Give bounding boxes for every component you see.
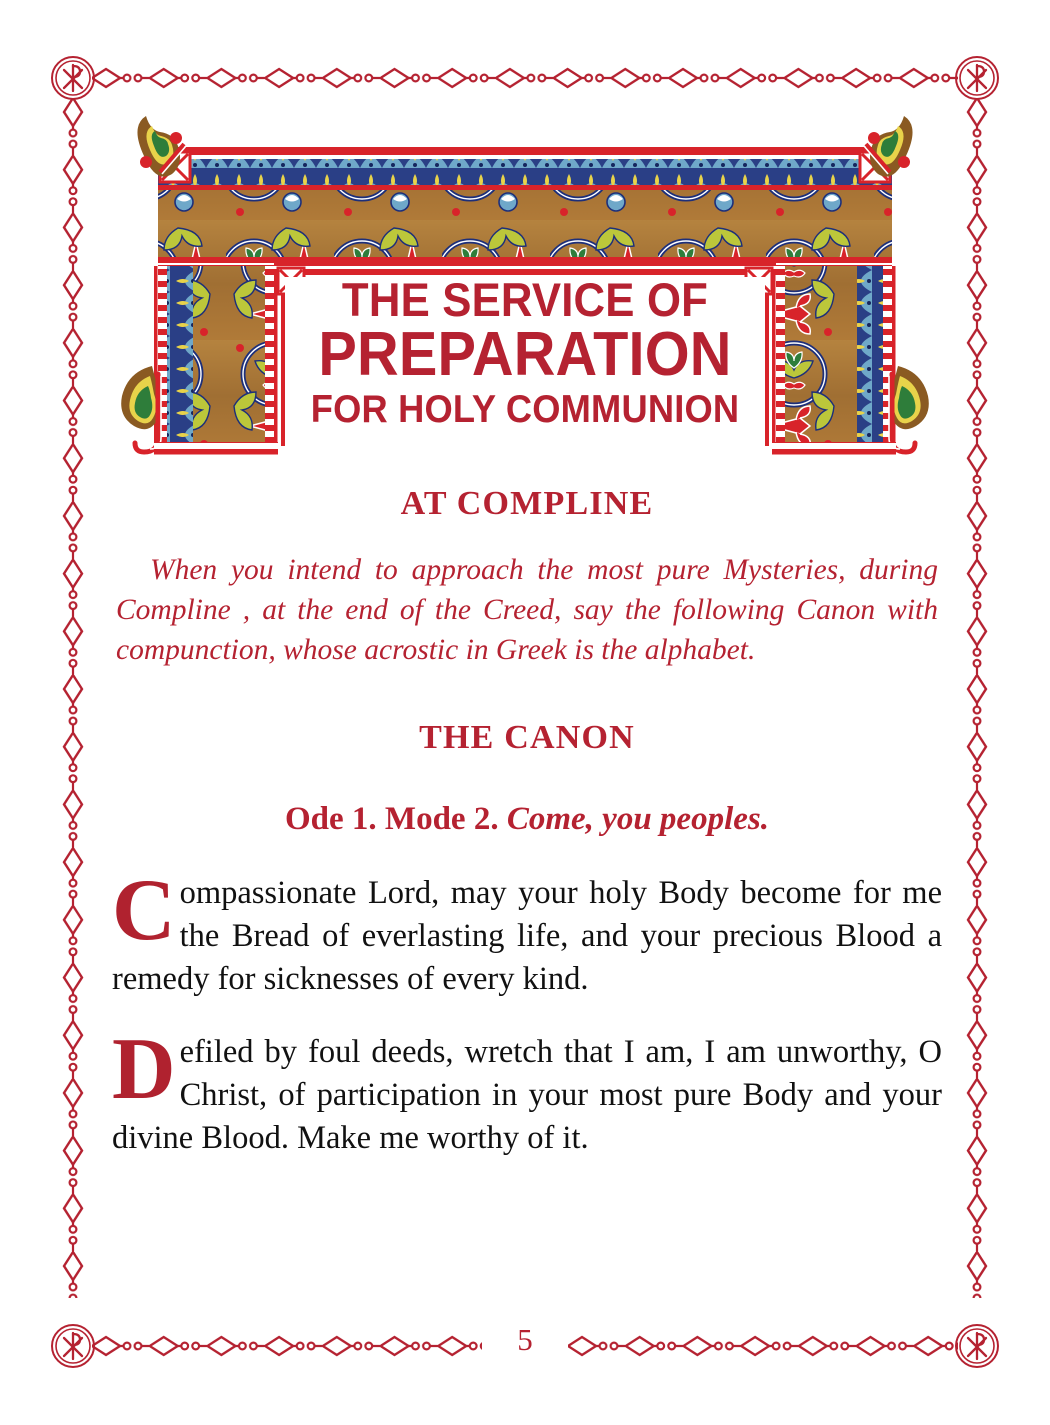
dropcap-c: C [112, 872, 179, 945]
heading-at-compline: AT COMPLINE [112, 485, 942, 523]
heading-ode-mode: Ode 1. Mode 2. Come, you peoples. [112, 801, 942, 838]
troparion-1: Compassionate Lord, may your holy Body b… [112, 872, 942, 1001]
ode-title: Come, you peoples. [507, 801, 769, 837]
chi-rho-icon [954, 55, 1000, 101]
page-number: 5 [0, 1322, 1050, 1358]
chi-rho-icon-top-left [50, 55, 96, 101]
dropcap-d: D [112, 1031, 179, 1104]
chain-lozenge-border-icon [58, 98, 88, 1298]
chain-lozenge-border-icon [92, 63, 958, 93]
troparion-1-text: ompassionate Lord, may your holy Body be… [112, 875, 942, 997]
page-content: AT COMPLINE When you intend to approach … [112, 485, 942, 1160]
page-title: THE SERVICE OF PREPARATION FOR HOLY COMM… [255, 276, 795, 429]
troparion-2-text: efiled by foul deeds, wretch that I am, … [112, 1034, 942, 1156]
title-line-2: PREPARATION [274, 324, 776, 386]
rubric-instruction: When you intend to approach the most pur… [116, 551, 938, 670]
border-chain-left [58, 98, 88, 1298]
headpiece-top-bar [158, 147, 892, 269]
border-chain-right [962, 98, 992, 1298]
document-page: THE SERVICE OF PREPARATION FOR HOLY COMM… [0, 0, 1050, 1425]
chain-lozenge-border-icon [962, 98, 992, 1298]
troparion-2: Defiled by foul deeds, wretch that I am,… [112, 1031, 942, 1160]
title-line-3: FOR HOLY COMMUNION [274, 390, 776, 429]
chi-rho-icon [50, 55, 96, 101]
ode-prefix: Ode 1. Mode 2. [285, 801, 499, 837]
chi-rho-icon-top-right [954, 55, 1000, 101]
heading-the-canon: THE CANON [112, 719, 942, 757]
title-line-1: THE SERVICE OF [274, 276, 776, 323]
border-chain-top [92, 63, 958, 93]
